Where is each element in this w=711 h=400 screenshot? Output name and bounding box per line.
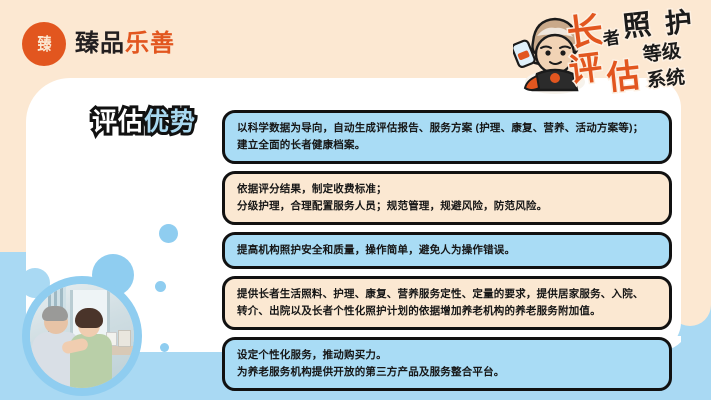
caregiver-photo <box>30 284 134 388</box>
brand-wordmark: 臻品乐善 <box>75 32 175 56</box>
product-title-char-zhe: 者 <box>602 29 621 48</box>
product-title-char-ping: 评 <box>567 50 604 87</box>
product-title-char-gu: 估 <box>605 58 641 94</box>
product-title-word-xitong: 系统 <box>646 68 686 91</box>
advantage-line: 转介、出院以及长者个性化照护计划的依据增加养老机构的养老服务附加值。 <box>237 303 658 320</box>
advantage-box: 依据评分结果，制定收费标准；分级护理，合理配置服务人员；规范管理，规避风险，防范… <box>222 171 672 225</box>
brand-seal-text: 臻 <box>37 36 50 53</box>
product-title-char-zhang: 长 <box>565 12 605 52</box>
advantage-line: 以科学数据为导向，自动生成评估报告、服务方案 (护理、康复、营养、活动方案等)； <box>237 120 658 137</box>
page-title: 评估优势 <box>92 110 196 135</box>
slide-canvas: 臻 臻品乐善 长 者 照 护 评 <box>0 0 711 400</box>
advantage-box: 以科学数据为导向，自动生成评估报告、服务方案 (护理、康复、营养、活动方案等)；… <box>222 110 672 164</box>
advantage-line: 分级护理，合理配置服务人员；规范管理，规避风险，防范风险。 <box>237 198 658 215</box>
decor-bubble-4 <box>160 343 169 352</box>
photo-caregiver-hair <box>75 308 103 328</box>
advantage-box: 提高机构照护安全和质量，操作简单，避免人为操作错误。 <box>222 232 672 269</box>
advantage-line: 设定个性化服务，推动购买力。 <box>237 347 658 364</box>
advantage-box: 设定个性化服务，推动购买力。为养老服务机构提供开放的第三方产品及服务整合平台。 <box>222 337 672 391</box>
decor-bubble-3 <box>155 281 166 292</box>
brand-logo[interactable]: 臻 臻品乐善 <box>22 22 175 66</box>
brand-name-part1: 臻品 <box>75 30 125 57</box>
brand-seal-icon: 臻 <box>22 22 66 66</box>
photo-elderly-hair <box>42 306 68 321</box>
product-title-word-dengji: 等级 <box>642 42 682 65</box>
advantage-line: 建立全面的长者健康档案。 <box>237 137 658 154</box>
page-title-part2: 优势 <box>144 108 196 136</box>
decor-bubble-1 <box>159 224 178 243</box>
product-title-char-zhao: 照 <box>622 11 653 42</box>
product-title: 长 者 照 护 评 估 等级 系统 <box>565 8 705 100</box>
brand-name-part2: 乐善 <box>125 30 175 57</box>
product-title-char-hu: 护 <box>664 9 693 38</box>
product-logo[interactable]: 长 者 照 护 评 估 等级 系统 <box>507 4 703 104</box>
photo-object-right <box>118 330 131 347</box>
advantage-line: 依据评分结果，制定收费标准； <box>237 181 658 198</box>
advantage-line: 为养老服务机构提供开放的第三方产品及服务整合平台。 <box>237 364 658 381</box>
advantage-line: 提供长者生活照料、护理、康复、营养服务定性、定量的要求，提供居家服务、入院、 <box>237 286 658 303</box>
page-title-part1: 评估 <box>92 108 144 136</box>
advantage-line: 提高机构照护安全和质量，操作简单，避免人为操作错误。 <box>237 242 658 259</box>
advantage-box: 提供长者生活照料、护理、康复、营养服务定性、定量的要求，提供居家服务、入院、转介… <box>222 276 672 330</box>
advantage-list: 以科学数据为导向，自动生成评估报告、服务方案 (护理、康复、营养、活动方案等)；… <box>222 110 672 398</box>
